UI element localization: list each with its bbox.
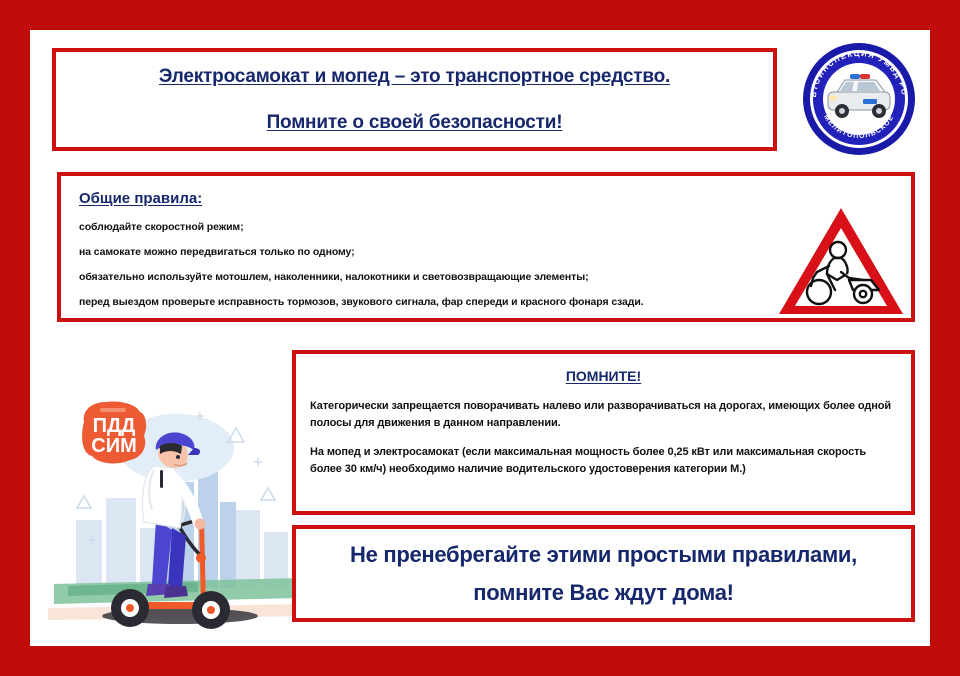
gosavtoinspekciya-emblem: ГОСАВТОИНСПЕКЦИЯ УМВД РОССИИ МЕЛИТОПОЛЬС…: [800, 40, 918, 158]
badge-line-1: ПДД: [93, 415, 136, 437]
pdd-sim-badge: ПДД СИМ: [82, 401, 146, 463]
moped-warning-triangle-sign: [775, 202, 907, 320]
footer-line-2: помните Вас ждут дома!: [473, 580, 733, 606]
remember-paragraph: На мопед и электросамокат (если максимал…: [310, 444, 897, 478]
poster-canvas: Электросамокат и мопед – это транспортно…: [30, 30, 930, 646]
scooter-rider-illustration: ПДД СИМ: [48, 370, 310, 632]
header-line-2: Помните о своей безопасности!: [267, 112, 563, 134]
rule-item: перед выездом проверьте исправность торм…: [79, 296, 893, 308]
header-banner: Электросамокат и мопед – это транспортно…: [52, 48, 777, 151]
footer-line-1: Не пренебрегайте этими простыми правилам…: [350, 542, 857, 568]
rule-item: на самокате можно передвигаться только п…: [79, 246, 893, 258]
footer-banner: Не пренебрегайте этими простыми правилам…: [292, 525, 915, 622]
remember-paragraph: Категорически запрещается поворачивать н…: [310, 398, 897, 432]
header-line-1: Электросамокат и мопед – это транспортно…: [159, 66, 670, 88]
remember-box: ПОМНИТЕ! Категорически запрещается повор…: [292, 350, 915, 515]
remember-title: ПОМНИТЕ!: [310, 368, 897, 384]
general-rules-title: Общие правила:: [79, 190, 893, 207]
rule-item: обязательно используйте мотошлем, наколе…: [79, 271, 893, 283]
badge-line-2: СИМ: [91, 435, 136, 457]
rule-item: соблюдайте скоростной режим;: [79, 221, 893, 233]
